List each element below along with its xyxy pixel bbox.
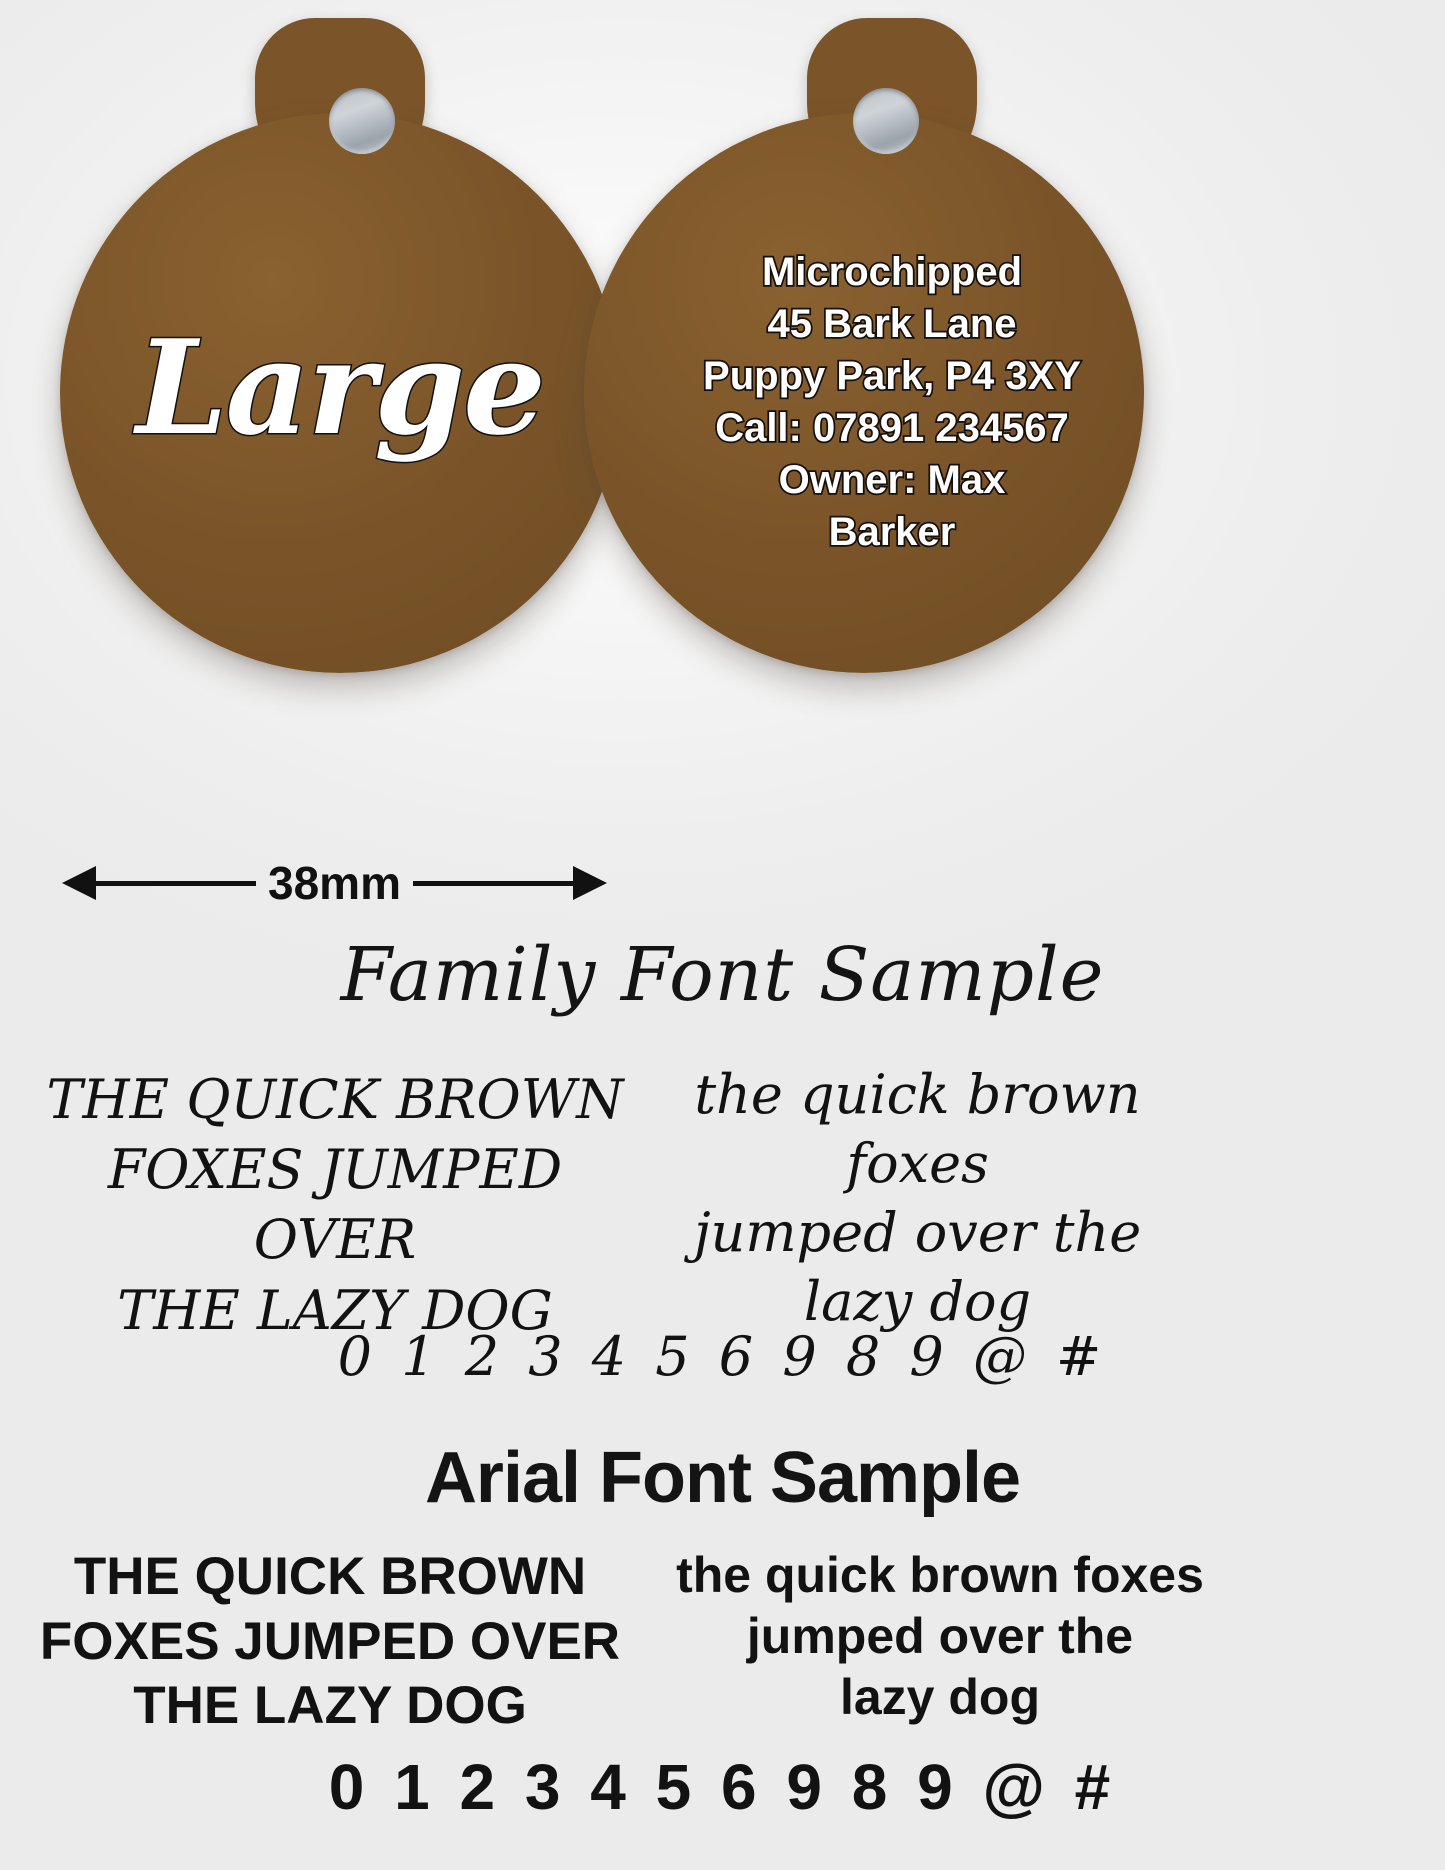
engraving-line-1: Microchipped	[646, 246, 1139, 298]
arial-lower-line-1: the quick brown foxes	[650, 1545, 1230, 1606]
family-lower-line-1: the quick brown foxes	[640, 1060, 1195, 1198]
arial-lower-line-2: jumped over the	[650, 1606, 1230, 1667]
family-lower-line-2: jumped over the	[640, 1198, 1195, 1267]
product-listing-image: Large Microchipped 45 Bark Lane Puppy Pa…	[0, 0, 1445, 1870]
dimension-indicator: 38mm	[62, 860, 607, 906]
tag-back-engraving: Microchipped 45 Bark Lane Puppy Park, P4…	[646, 246, 1139, 558]
engraving-line-2: 45 Bark Lane	[646, 298, 1139, 350]
engraving-line-4: Call: 07891 234567	[646, 402, 1139, 454]
arrow-left-icon	[62, 866, 96, 900]
pet-tag-front: Large	[60, 18, 620, 698]
engraving-line-3: Puppy Park, P4 3XY	[646, 350, 1139, 402]
arial-font-lowercase-sample: the quick brown foxes jumped over the la…	[650, 1545, 1230, 1728]
hole-icon-front	[329, 88, 395, 154]
arrow-right-icon	[573, 866, 607, 900]
arial-font-glyph-row: 0 1 2 3 4 5 6 9 8 9 @ #	[0, 1755, 1445, 1819]
hole-icon-back	[853, 88, 919, 154]
family-upper-line-2: FOXES JUMPED OVER	[35, 1135, 635, 1275]
arial-font-uppercase-sample: THE QUICK BROWN FOXES JUMPED OVER THE LA…	[20, 1545, 640, 1739]
dimension-line-left	[96, 881, 256, 886]
dimension-line-right	[413, 881, 573, 886]
tag-body-front: Large	[60, 18, 620, 698]
family-font-glyph-row: 0 1 2 3 4 5 6 9 8 9 @ #	[0, 1330, 1445, 1384]
arial-upper-line-1: THE QUICK BROWN	[20, 1545, 640, 1610]
family-font-uppercase-sample: THE QUICK BROWN FOXES JUMPED OVER THE LA…	[35, 1065, 635, 1346]
family-font-lowercase-sample: the quick brown foxes jumped over the la…	[640, 1060, 1195, 1336]
arial-upper-line-2: FOXES JUMPED OVER	[20, 1610, 640, 1675]
family-font-sample-title: Family Font Sample	[0, 938, 1445, 1012]
arial-font-sample-title: Arial Font Sample	[0, 1442, 1445, 1514]
arial-upper-line-3: THE LAZY DOG	[20, 1674, 640, 1739]
engraving-line-6: Barker	[646, 506, 1139, 558]
arial-lower-line-3: lazy dog	[650, 1667, 1230, 1728]
pet-tag-back: Microchipped 45 Bark Lane Puppy Park, P4…	[612, 18, 1172, 698]
dimension-label: 38mm	[256, 860, 413, 906]
tag-body-back: Microchipped 45 Bark Lane Puppy Park, P4…	[612, 18, 1172, 698]
engraving-line-5: Owner: Max	[646, 454, 1139, 506]
tag-front-engraving: Large	[60, 323, 620, 453]
family-upper-line-1: THE QUICK BROWN	[35, 1065, 635, 1135]
